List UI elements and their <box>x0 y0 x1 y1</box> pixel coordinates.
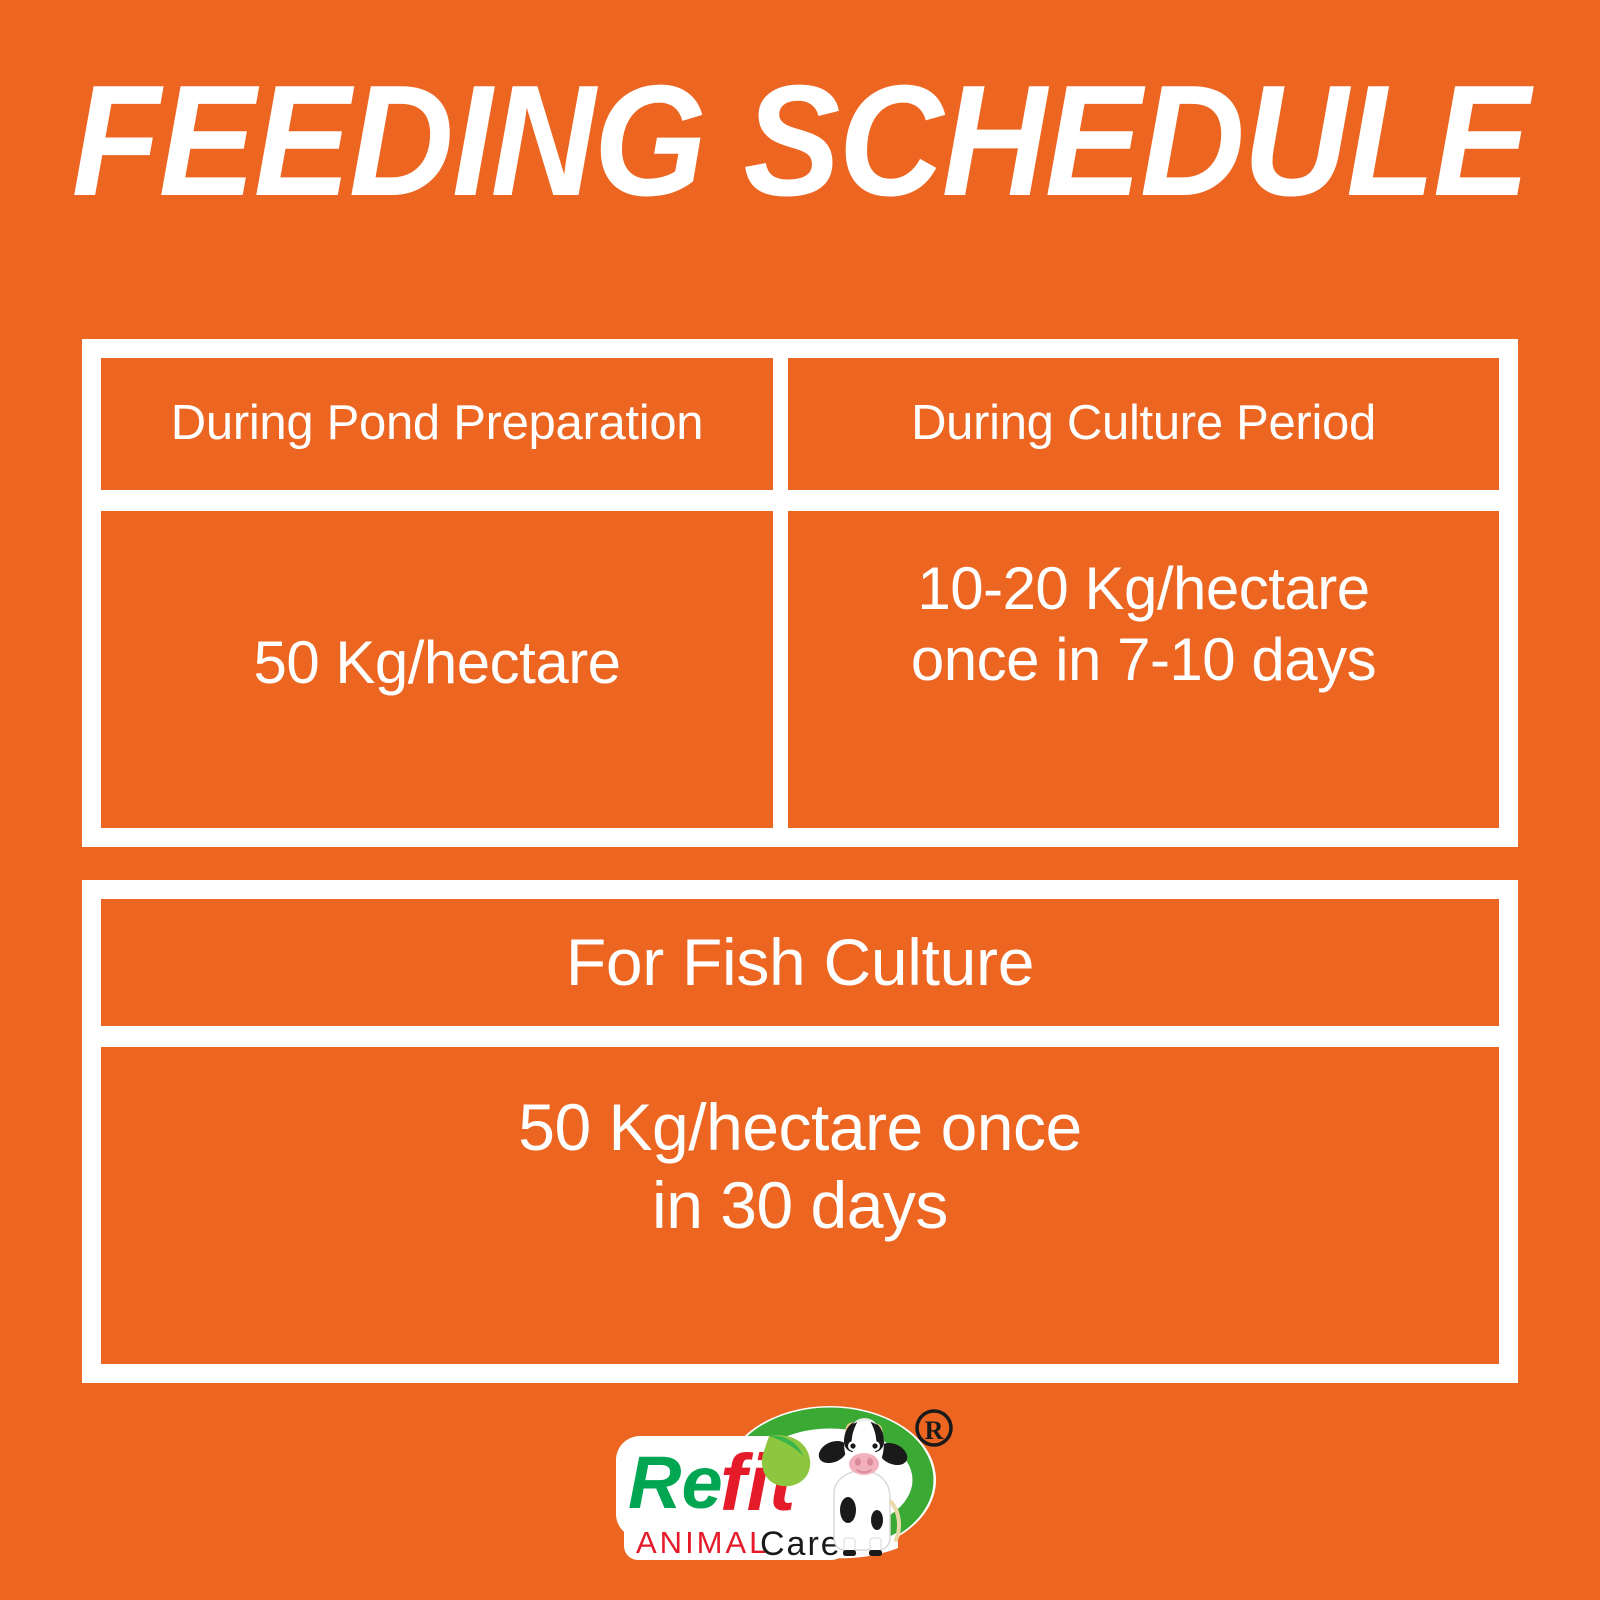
svg-text:R: R <box>925 1416 944 1445</box>
table-body-row: 50 Kg/hectare 10-20 Kg/hectare once in 7… <box>101 511 1499 828</box>
value-cell-culture-period-dose: 10-20 Kg/hectare once in 7-10 days <box>788 511 1499 828</box>
header-cell-for-fish-culture: For Fish Culture <box>101 899 1499 1026</box>
logo-tagline-care: Care <box>760 1525 842 1563</box>
refit-animal-care-logo: Re fit ANIMAL Care <box>598 1398 1002 1574</box>
value-line: in 30 days <box>652 1168 948 1242</box>
value-line: 10-20 Kg/hectare <box>917 555 1369 622</box>
feeding-table-fish-culture: For Fish Culture 50 Kg/hectare once in 3… <box>82 880 1518 1383</box>
fish-culture-body-row: 50 Kg/hectare once in 30 days <box>101 1047 1499 1364</box>
value-text: 50 Kg/hectare once in 30 days <box>518 1089 1081 1245</box>
value-text: 10-20 Kg/hectare once in 7-10 days <box>911 554 1376 696</box>
logo-brand-primary: Re <box>628 1441 723 1524</box>
page-title: FEEDING SCHEDULE <box>64 62 1536 220</box>
feeding-table-pond: During Pond Preparation During Culture P… <box>82 339 1518 847</box>
value-line: 50 Kg/hectare once <box>518 1090 1081 1164</box>
value-line: 50 Kg/hectare <box>253 628 620 699</box>
value-line: once in 7-10 days <box>911 626 1376 693</box>
header-cell-during-pond-preparation: During Pond Preparation <box>101 358 773 490</box>
logo-tagline-animal: ANIMAL <box>636 1525 769 1560</box>
table-header-row: During Pond Preparation During Culture P… <box>101 358 1499 490</box>
registered-icon: R <box>917 1411 951 1445</box>
value-cell-fish-culture-dose: 50 Kg/hectare once in 30 days <box>101 1047 1499 1364</box>
value-cell-pond-preparation-dose: 50 Kg/hectare <box>101 511 773 828</box>
header-cell-during-culture-period: During Culture Period <box>788 358 1499 490</box>
logo-tagline: ANIMAL Care <box>636 1525 842 1563</box>
fish-culture-header-row: For Fish Culture <box>101 899 1499 1026</box>
